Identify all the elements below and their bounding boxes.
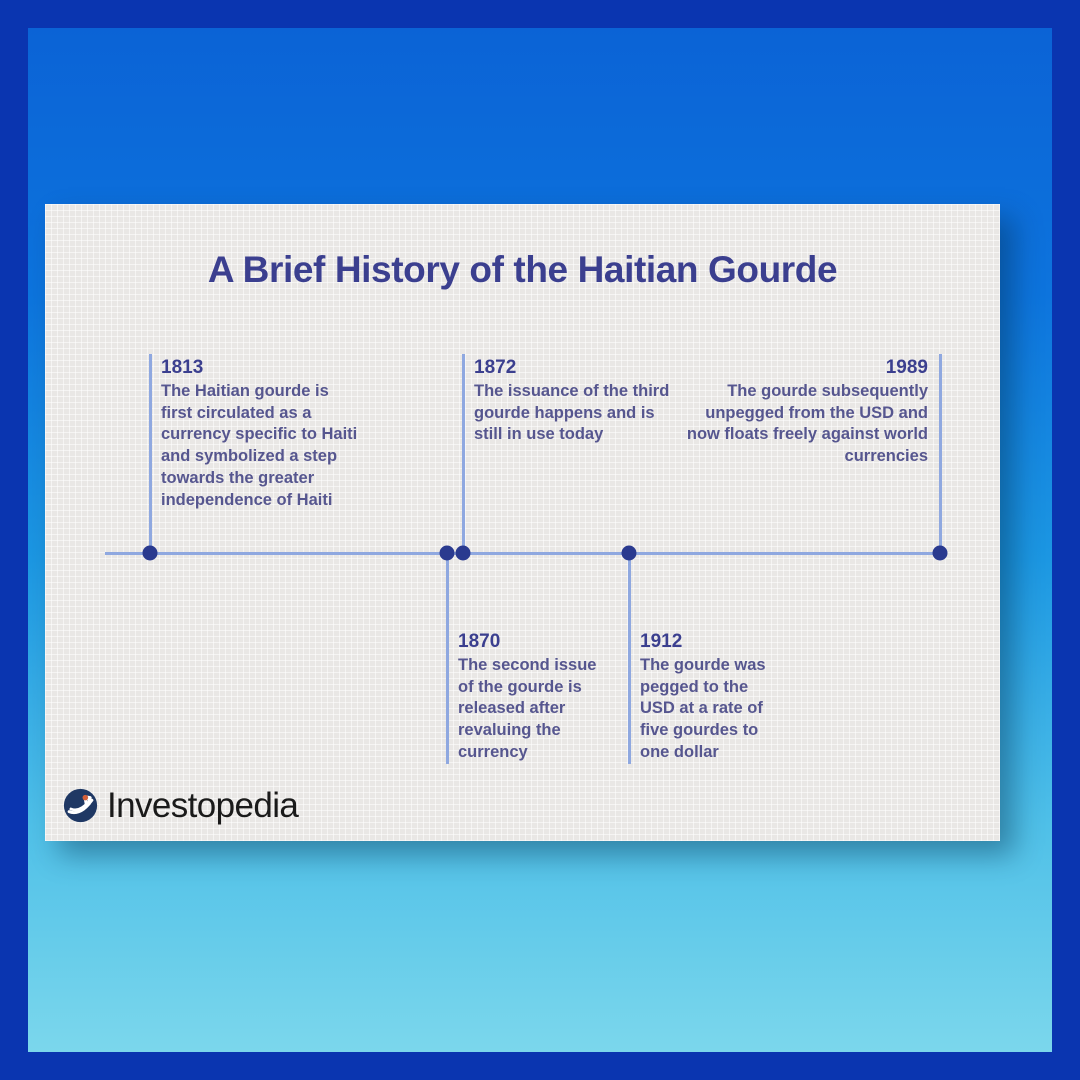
connector-line-1870 [446, 554, 449, 764]
timeline-entry-year: 1813 [161, 356, 361, 380]
connector-line-1813 [149, 354, 152, 554]
timeline-entry-1872: 1872 The issuance of the third gourde ha… [474, 356, 674, 446]
timeline-entry-1912: 1912 The gourde was pegged to the USD at… [640, 630, 780, 764]
infographic-card: A Brief History of the Haitian Gourde 18… [45, 204, 1000, 841]
connector-line-1989 [939, 354, 942, 554]
timeline-dot-1912[interactable] [622, 546, 637, 561]
timeline-entry-text: The second issue of the gourde is releas… [458, 655, 608, 764]
page-title: A Brief History of the Haitian Gourde [45, 249, 1000, 291]
investopedia-logo[interactable]: Investopedia [63, 788, 298, 823]
timeline-entry-text: The issuance of the third gourde happens… [474, 381, 674, 446]
timeline-axis [105, 552, 942, 555]
timeline-dot-1872[interactable] [456, 546, 471, 561]
poster-canvas: A Brief History of the Haitian Gourde 18… [0, 0, 1080, 1080]
timeline-entry-text: The gourde subsequently unpegged from th… [685, 381, 928, 468]
timeline-entry-1813: 1813 The Haitian gourde is first circula… [161, 356, 361, 511]
timeline-entry-year: 1872 [474, 356, 674, 380]
connector-line-1872 [462, 354, 465, 554]
timeline-dot-1813[interactable] [143, 546, 158, 561]
timeline-entry-text: The Haitian gourde is first circulated a… [161, 381, 361, 512]
connector-line-1912 [628, 554, 631, 764]
timeline-entry-1870: 1870 The second issue of the gourde is r… [458, 630, 608, 764]
timeline-entry-year: 1912 [640, 630, 780, 654]
investopedia-mark-icon [63, 788, 98, 823]
timeline-entry-year: 1870 [458, 630, 608, 654]
timeline-entry-year: 1989 [685, 356, 928, 380]
timeline-dot-1870[interactable] [440, 546, 455, 561]
investopedia-wordmark: Investopedia [107, 788, 298, 823]
timeline-dot-1989[interactable] [933, 546, 948, 561]
timeline-entry-text: The gourde was pegged to the USD at a ra… [640, 655, 780, 764]
timeline-entry-1989: 1989 The gourde subsequently unpegged fr… [685, 356, 928, 468]
